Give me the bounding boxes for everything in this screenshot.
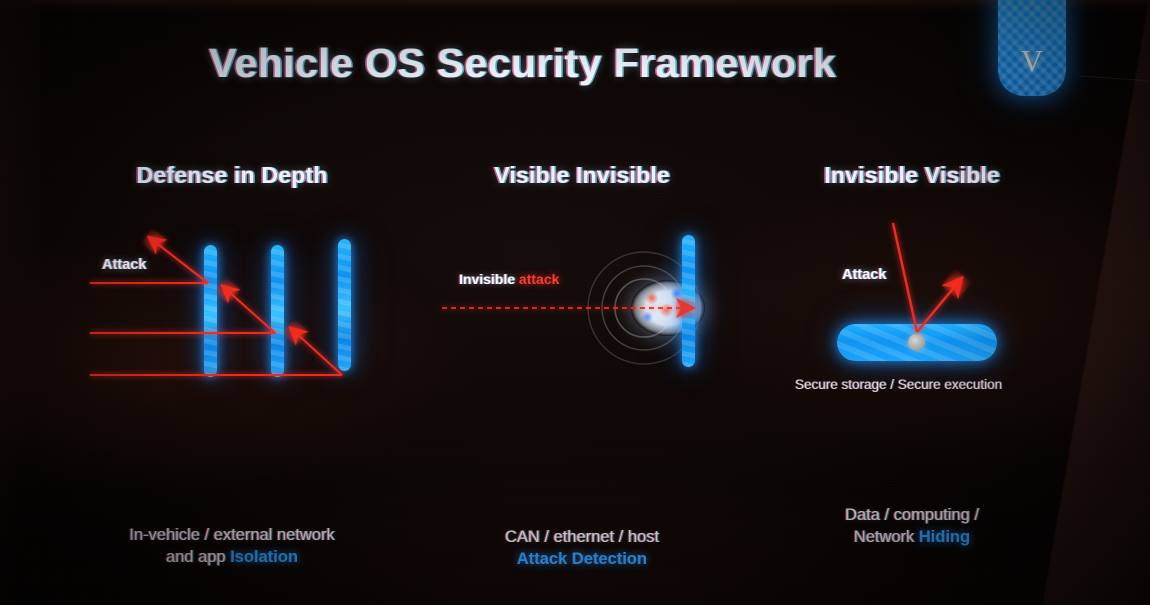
slide-photo: Vehicle OS Security Framework V Defense … bbox=[0, 0, 1150, 605]
logo-letter: V bbox=[1021, 45, 1043, 76]
attack-arrows-1 bbox=[82, 233, 382, 483]
column-3-diagram: Attack Secure storage / Secure execution bbox=[762, 219, 1062, 469]
column-3-heading: Invisible Visible bbox=[762, 162, 1062, 189]
column-1-caption-line1: In-vehicle / external network bbox=[129, 526, 334, 544]
column-1-caption-prefix: and app bbox=[166, 548, 230, 566]
column-visible-invisible: Visible Invisible Invisible attack bbox=[432, 162, 732, 571]
column-3-caption: Data / computing / Network Hiding bbox=[762, 505, 1062, 549]
column-3-caption-prefix: Network bbox=[854, 528, 919, 546]
column-2-caption-highlight: Attack Detection bbox=[517, 550, 647, 568]
column-1-caption: In-vehicle / external network and app Is… bbox=[82, 525, 382, 569]
screen-top-edge bbox=[0, 0, 1150, 12]
column-2-caption-line1: CAN / ethernet / host bbox=[505, 528, 659, 546]
column-2-diagram: Invisible attack bbox=[432, 235, 732, 485]
brand-logo-badge: V bbox=[998, 0, 1066, 96]
column-2-heading: Visible Invisible bbox=[432, 162, 732, 189]
screen-left-edge bbox=[0, 0, 40, 605]
column-1-caption-highlight: Isolation bbox=[230, 548, 298, 566]
column-3-caption-highlight: Hiding bbox=[919, 528, 970, 546]
column-defense-in-depth: Defense in Depth Attack bbox=[82, 162, 382, 569]
slide-title: Vehicle OS Security Framework bbox=[0, 40, 1150, 87]
column-1-heading: Defense in Depth bbox=[82, 162, 382, 189]
invisible-attack-arrow bbox=[432, 235, 732, 485]
column-invisible-visible: Invisible Visible Attack Secure storage … bbox=[762, 162, 1062, 549]
attack-arrows-3 bbox=[762, 219, 1062, 469]
secure-storage-sublabel: Secure storage / Secure execution bbox=[795, 377, 1002, 392]
column-1-diagram: Attack bbox=[82, 233, 382, 483]
column-3-caption-line1: Data / computing / bbox=[845, 506, 979, 524]
column-2-caption: CAN / ethernet / host Attack Detection bbox=[432, 527, 732, 571]
